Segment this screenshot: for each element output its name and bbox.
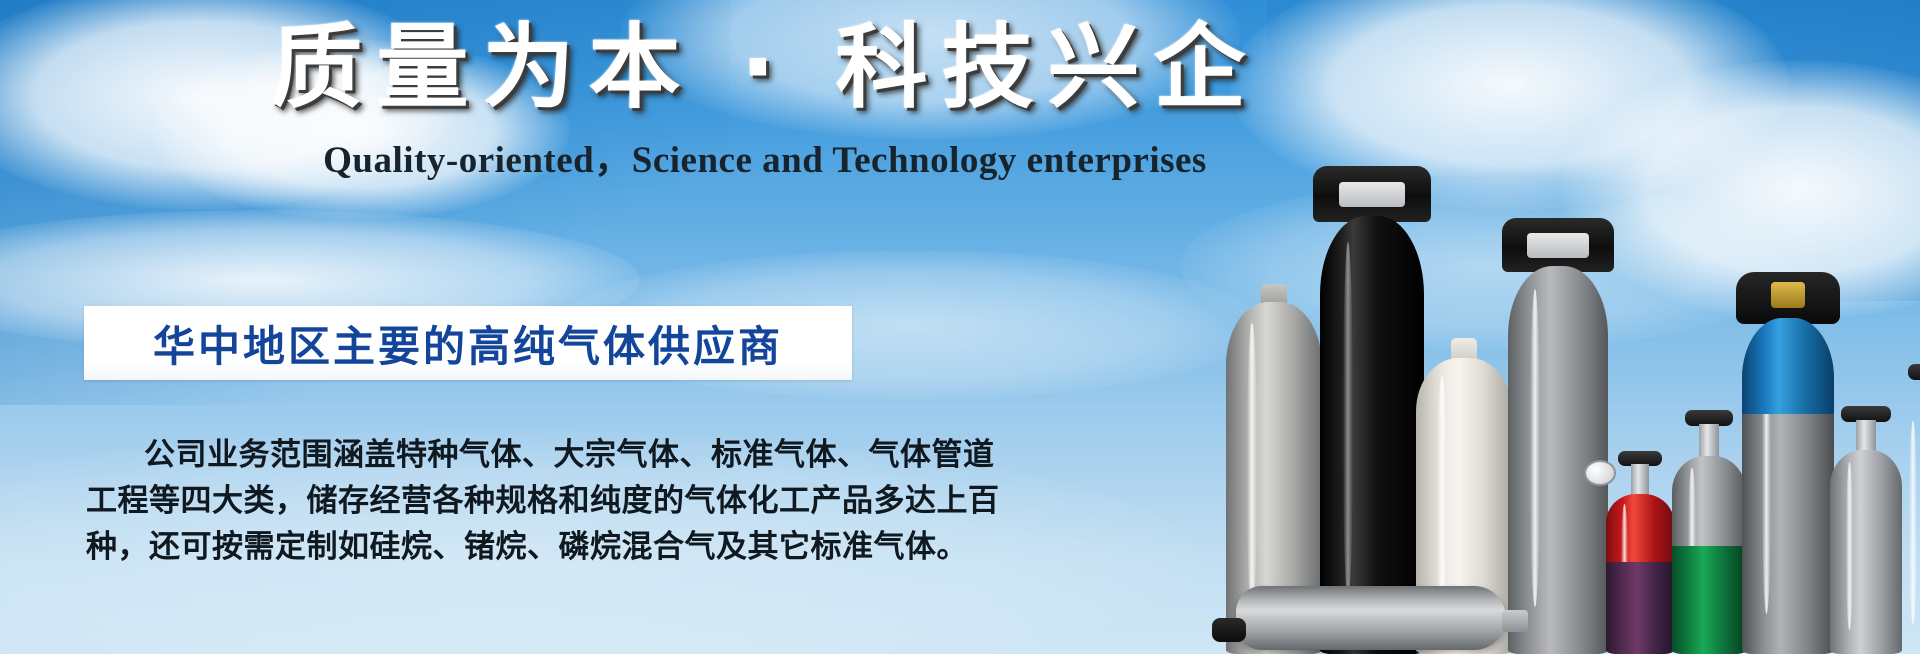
paragraph-line-3: 种，还可按需定制如硅烷、锗烷、磷烷混合气及其它标准气体。 [86,524,886,570]
cylinder-blue-right [1892,354,1920,654]
cylinder-highlight [1530,289,1540,607]
cylinder-grey-capped [1508,234,1608,654]
description-paragraph: 公司业务范围涵盖特种气体、大宗气体、标准气体、气体管道 工程等四大类，储存经营各… [86,432,886,570]
paragraph-line-1: 公司业务范围涵盖特种气体、大宗气体、标准气体、气体管道 [86,432,886,478]
headline-chinese: 质量为本 · 科技兴企 [0,14,1530,123]
highlight-box-text: 华中地区主要的高纯气体供应商 [153,313,783,374]
cylinder-cap [1502,218,1614,272]
cylinder-cap [1313,166,1431,222]
cylinder-pressure-gauge [1584,460,1616,486]
cylinder-highlight [1247,323,1257,612]
cylinder-body [1606,494,1674,654]
cylinder-lying-neck [1502,610,1528,632]
cylinder-lying-valve [1212,618,1246,642]
paragraph-line-2: 工程等四大类，储存经营各种规格和纯度的气体化工产品多达上百 [86,478,886,524]
gas-cylinder-group [1220,134,1920,654]
cylinder-black-tall [1320,184,1424,654]
cylinder-highlight [1343,242,1353,601]
promotional-banner: 质量为本 · 科技兴企 Quality-oriented，Science and… [0,0,1920,654]
cylinder-blue-band [1742,318,1834,414]
cylinder-body [1742,318,1834,654]
cylinder-body [1892,406,1920,654]
cylinder-green-small [1672,404,1746,654]
cylinder-valve-knob [1908,364,1920,380]
cylinder-highlight [1909,421,1917,624]
cylinder-highlight [1437,376,1447,619]
cylinder-body [1672,456,1746,654]
cylinder-lower-band [1606,562,1674,654]
cylinder-valve-stem [1699,424,1719,458]
cylinder-red-purple-small [1606,440,1674,654]
highlight-box: 华中地区主要的高纯气体供应商 [84,306,852,380]
cylinder-highlight [1846,462,1853,629]
cylinder-grey-lying [1236,586,1506,650]
cylinder-brass-valve [1771,282,1805,308]
cylinder-blue-grey-tall [1742,266,1834,654]
cylinder-lower-band [1672,546,1746,654]
cylinder-valve-stem [1856,420,1876,454]
cylinder-valve-stem [1631,464,1649,496]
